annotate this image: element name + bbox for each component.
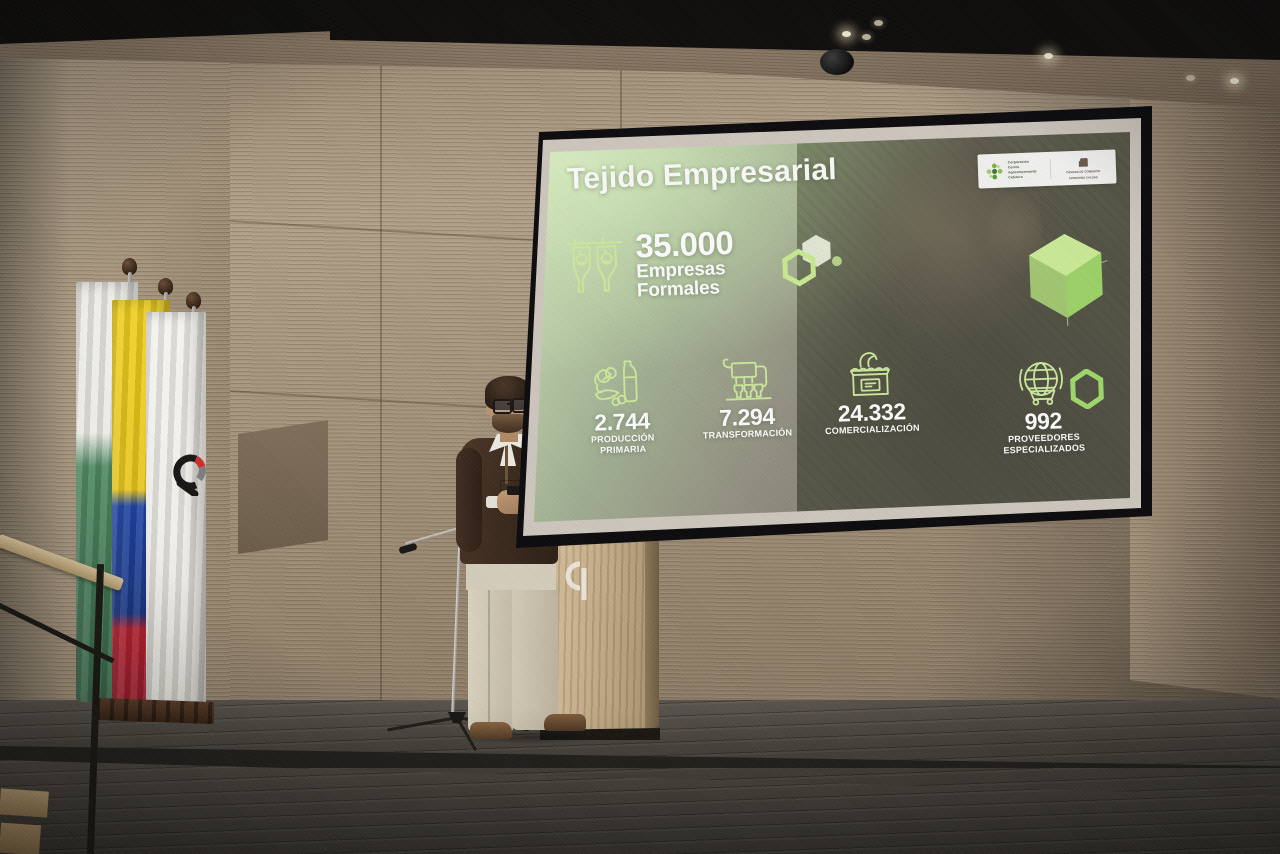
sweater-zipper xyxy=(505,444,508,484)
stat-label-1: TRANSFORMACIÓN xyxy=(703,427,793,441)
slide-stats-row: 2.744 PRODUCCIÓN PRIMARIA xyxy=(559,346,933,457)
lectern-wood-grain xyxy=(545,521,649,739)
stat-item-suppliers: 992 PROVEEDORES ESPECIALIZADOS xyxy=(972,354,1113,456)
stair-step xyxy=(0,823,41,854)
stat-number: 992 xyxy=(1024,409,1062,433)
ceiling-spotlight xyxy=(862,34,871,40)
stat-icon-slot xyxy=(1013,356,1071,408)
secondary-logo: CÁMARA DE COMERCIO CHINCHINÁ CALDAS xyxy=(1057,155,1110,180)
green-cube-graphic xyxy=(1022,228,1109,327)
lectern-monogram-icon xyxy=(560,560,594,602)
presenter-left-shoe xyxy=(470,722,512,739)
headline-label-1: Empresas xyxy=(636,258,735,281)
stair-step xyxy=(0,788,49,817)
flag-stand-slots xyxy=(96,698,215,724)
headline-stat: 35.000 Empresas Formales xyxy=(563,226,735,303)
flag-stand-base xyxy=(96,698,215,724)
presenter-left-leg xyxy=(468,580,514,732)
wall-shadow xyxy=(0,40,70,782)
flower-cluster-icon xyxy=(985,161,1005,181)
headline-stat-text: 35.000 Empresas Formales xyxy=(635,226,735,300)
stat-icon-slot xyxy=(591,356,651,408)
ceiling-spotlight xyxy=(874,20,883,26)
stat-icon-slot xyxy=(840,347,900,399)
stat-label-2: PRIMARIA xyxy=(600,443,646,455)
ceiling-spotlight xyxy=(842,31,851,37)
stat-label-1: COMERCIALIZACIÓN xyxy=(825,423,920,437)
ceiling-spotlight xyxy=(1044,53,1053,59)
logo-divider xyxy=(1050,159,1052,179)
c-shaped-logo-icon xyxy=(166,450,206,496)
trouser-crease xyxy=(488,584,490,726)
eyeglasses-bridge xyxy=(507,403,513,405)
presentation-clicker xyxy=(507,486,521,495)
stat-icon-slot xyxy=(716,352,776,404)
chamber-of-commerce-icon xyxy=(1076,156,1091,170)
processing-vessels-icon xyxy=(563,234,627,300)
bottling-machine-icon xyxy=(716,354,776,404)
hexagon-cluster-graphic xyxy=(778,232,850,297)
stat-item: 7.294 TRANSFORMACIÓN xyxy=(684,351,808,453)
flag-folds xyxy=(146,312,206,716)
market-stall-icon xyxy=(840,349,900,399)
primary-logo-text: Corporación Centro Agroempresarial Cafet… xyxy=(1008,160,1037,181)
wall-recess xyxy=(238,420,330,555)
lectern-side xyxy=(645,520,659,732)
stat-number: 7.294 xyxy=(719,405,775,430)
presenter-right-shoe xyxy=(544,714,586,731)
stat-item: 2.744 PRODUCCIÓN PRIMARIA xyxy=(559,355,683,457)
presenter-beard xyxy=(492,414,525,433)
primary-logo: Corporación Centro Agroempresarial Cafet… xyxy=(985,160,1045,182)
slide-title: Tejido Empresarial xyxy=(566,153,837,197)
presenter-left-arm xyxy=(456,448,482,552)
stat-label-2: ESPECIALIZADOS xyxy=(1003,442,1085,456)
presenter-right-leg xyxy=(512,580,558,730)
presentation-photo: Tejido Empresarial Corporación xyxy=(0,0,1280,854)
headline-number: 35.000 xyxy=(635,226,734,261)
flag-institution xyxy=(146,312,206,716)
headline-label-2: Formales xyxy=(636,277,735,300)
wall-seam xyxy=(380,40,382,740)
ceiling-spotlight xyxy=(1230,78,1239,84)
slide-logo-lockup: Corporación Centro Agroempresarial Cafet… xyxy=(978,150,1117,189)
stat-number: 24.332 xyxy=(837,400,906,425)
ceiling-dome-speaker xyxy=(820,49,854,75)
wall-slat-texture xyxy=(1130,60,1280,740)
ceiling-spotlight xyxy=(1186,75,1195,81)
stat-number: 2.744 xyxy=(594,409,650,434)
slide-content: Tejido Empresarial Corporación xyxy=(534,130,1132,528)
fresh-produce-icon xyxy=(591,358,651,408)
presentation-slide: Tejido Empresarial Corporación xyxy=(534,130,1132,528)
wooden-lectern xyxy=(545,521,649,739)
right-wall-panel xyxy=(1130,60,1280,740)
globe-cart-icon xyxy=(1013,356,1071,408)
stat-item: 24.332 COMERCIALIZACIÓN xyxy=(809,346,933,448)
eyeglasses-left-lens-icon xyxy=(493,399,512,414)
